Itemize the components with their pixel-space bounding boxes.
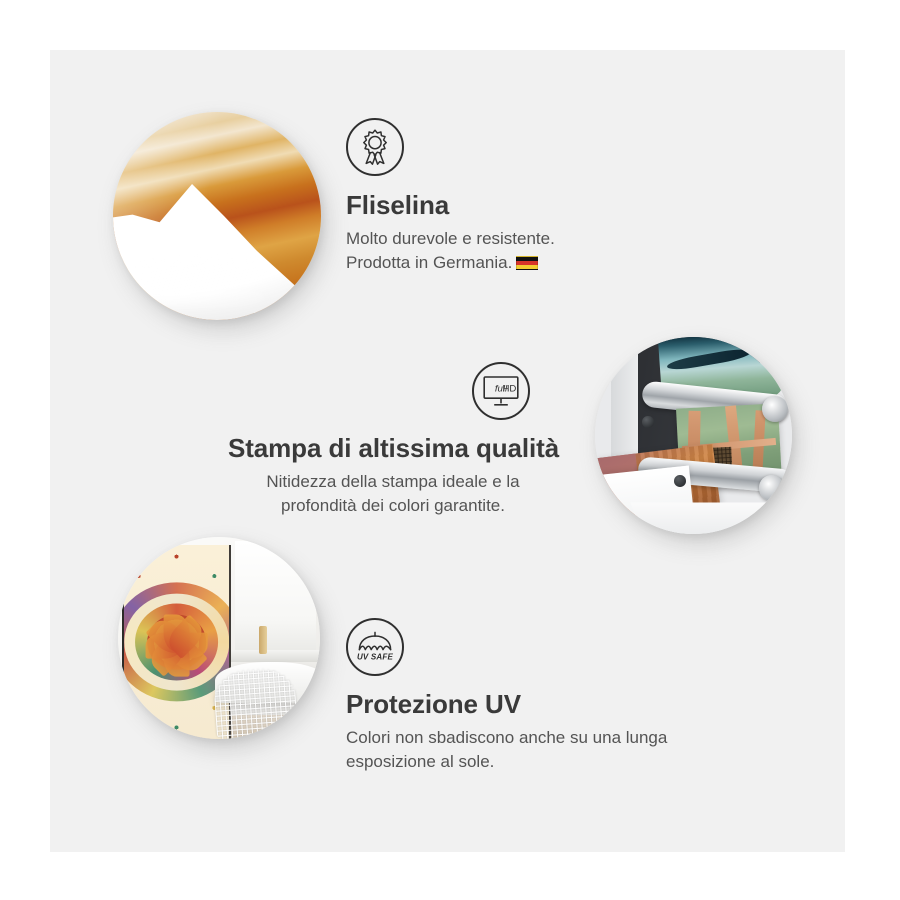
desc-line-2: Prodotta in Germania. bbox=[346, 253, 512, 272]
window bbox=[235, 541, 316, 654]
feature-description: Colori non sbadiscono anche su una lunga… bbox=[346, 726, 667, 774]
feature-title: Protezione UV bbox=[346, 689, 667, 720]
mandala-dot-accents bbox=[124, 545, 229, 739]
promo-graphic: Fliselina Molto durevole e resistente. P… bbox=[0, 0, 900, 900]
printer-front-cover bbox=[630, 502, 768, 534]
desc-line-1: Nitidezza della stampa ideale e la bbox=[266, 472, 519, 491]
uv-umbrella-icon: UV SAFE bbox=[346, 618, 404, 676]
feature-print-quality: full HD Stampa di altissima qualità Niti… bbox=[228, 362, 558, 518]
svg-text:HD: HD bbox=[502, 383, 516, 394]
german-flag-icon bbox=[516, 256, 538, 270]
roller-end-cap-right bbox=[762, 396, 788, 422]
desc-line-2: esposizione al sole. bbox=[346, 752, 494, 771]
desc-line-1: Molto durevole e resistente. bbox=[346, 229, 555, 248]
window-sill bbox=[231, 650, 320, 662]
svg-text:UV SAFE: UV SAFE bbox=[357, 652, 394, 661]
large-format-printer-photo bbox=[595, 337, 792, 534]
fullhd-monitor-icon: full HD bbox=[472, 362, 530, 420]
feature-description: Molto durevole e resistente. Prodotta in… bbox=[346, 227, 555, 275]
printer-knob-front bbox=[674, 475, 686, 487]
candle-holder bbox=[259, 626, 267, 654]
peeling-fleece-wallpaper-photo bbox=[113, 112, 321, 320]
roller-end-cap-bottom bbox=[759, 475, 785, 501]
feature-description: Nitidezza della stampa ideale e la profo… bbox=[228, 470, 558, 518]
feature-fleece: Fliselina Molto durevole e resistente. P… bbox=[346, 118, 555, 275]
wire-chair bbox=[213, 668, 298, 739]
feature-title: Fliselina bbox=[346, 190, 555, 221]
award-ribbon-icon bbox=[346, 118, 404, 176]
feature-uv-protection: UV SAFE Protezione UV Colori non sbadisc… bbox=[346, 618, 667, 774]
feature-title: Stampa di altissima qualità bbox=[228, 433, 558, 464]
mandala-wallpaper-room-photo bbox=[118, 537, 320, 739]
desc-line-2: profondità dei colori garantite. bbox=[281, 496, 505, 515]
desc-line-1: Colori non sbadiscono anche su una lunga bbox=[346, 728, 667, 747]
printer-knob-rear bbox=[642, 416, 654, 428]
curl-highlight bbox=[138, 255, 279, 305]
